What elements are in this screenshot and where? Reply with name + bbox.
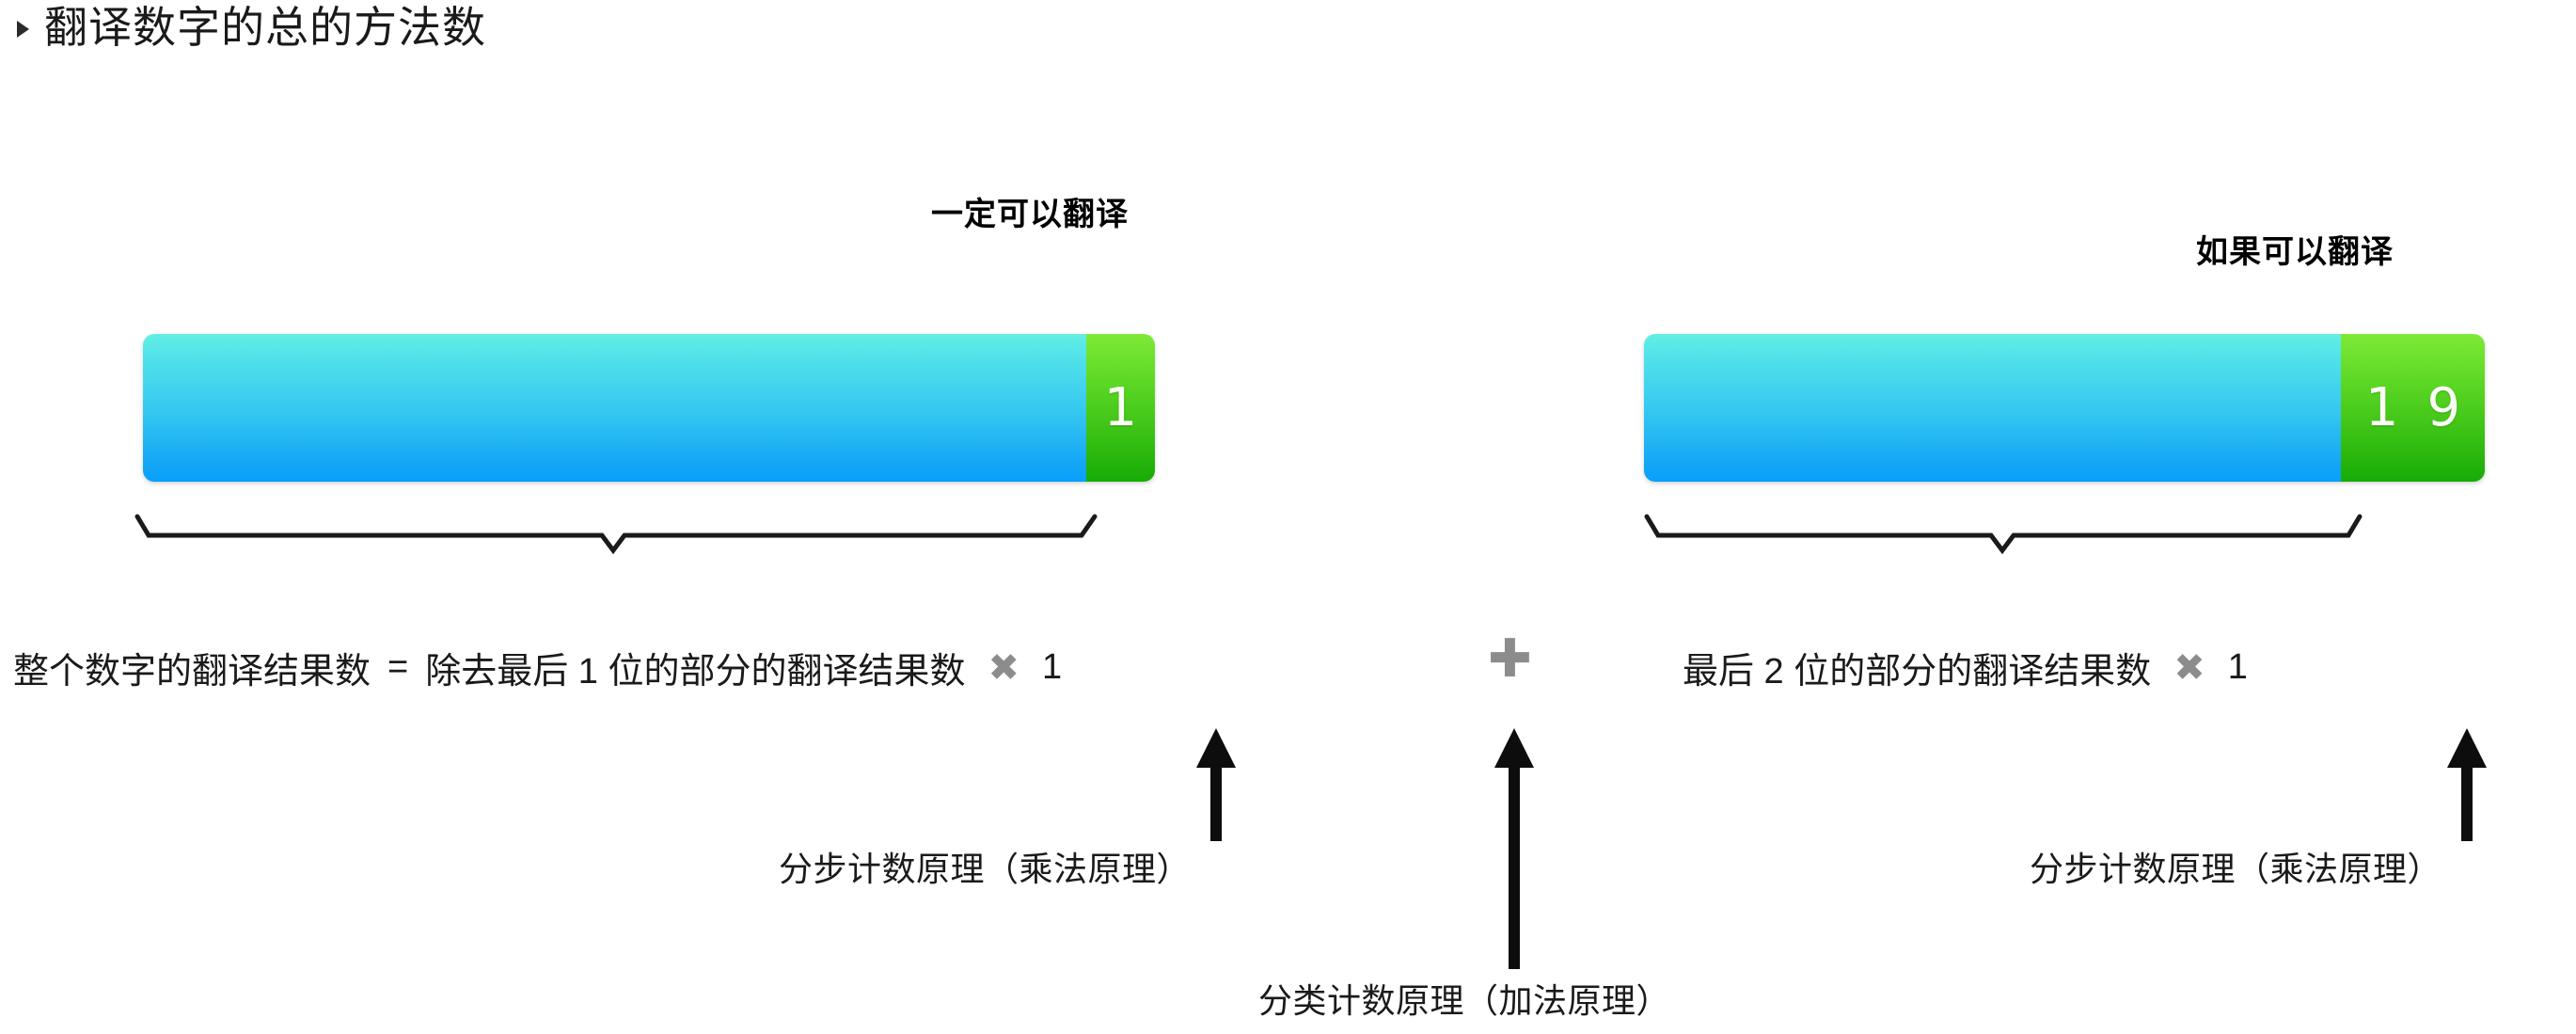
underbrace-right — [1641, 513, 2365, 560]
triangle-right-icon — [17, 21, 29, 38]
plus-icon: ✚ — [1488, 632, 1532, 685]
formula-left-equals: = — [387, 647, 408, 688]
formula-left-rhs-term: 除去最后 1 位的部分的翻译结果数 — [425, 642, 965, 693]
number-bar-right: 1 9 — [1644, 334, 2485, 482]
annotation-left: 分步计数原理（乘法原理） — [779, 842, 1191, 891]
arrow-up-left-multiply — [1191, 724, 1241, 843]
annotation-right: 分步计数原理（乘法原理） — [2030, 842, 2442, 891]
bar-left-green-segment: 1 — [1086, 334, 1155, 482]
formula-left: 整个数字的翻译结果数 = 除去最后 1 位的部分的翻译结果数 ✖ 1 — [13, 642, 1062, 693]
bar-right-green-segment: 1 9 — [2341, 334, 2485, 482]
formula-right-factor: 1 — [2228, 647, 2248, 688]
number-bar-left: 1 — [143, 334, 1155, 482]
bar-left-digit-1: 1 — [1104, 382, 1138, 435]
bar-right-blue-segment — [1644, 334, 2341, 482]
bar-caption-right: 如果可以翻译 — [2196, 226, 2394, 272]
bar-right-digit-1: 1 — [2365, 382, 2399, 435]
multiply-icon: ✖ — [982, 649, 1025, 687]
annotation-center: 分类计数原理（加法原理） — [1258, 974, 1670, 1023]
formula-left-lhs: 整个数字的翻译结果数 — [13, 642, 371, 693]
underbrace-left — [132, 513, 1100, 560]
page-title-text: 翻译数字的总的方法数 — [44, 4, 486, 52]
bar-right-digit-2: 9 — [2427, 382, 2461, 435]
arrow-up-right-multiply — [2442, 724, 2492, 843]
formula-right-rhs-term: 最后 2 位的部分的翻译结果数 — [1683, 642, 2151, 693]
bar-left-blue-segment — [143, 334, 1086, 482]
bar-caption-left: 一定可以翻译 — [931, 188, 1129, 234]
formula-left-factor: 1 — [1042, 647, 1062, 688]
multiply-icon: ✖ — [2168, 649, 2211, 687]
page-title: 翻译数字的总的方法数 — [17, 4, 486, 52]
slide-canvas: 翻译数字的总的方法数 一定可以翻译 如果可以翻译 1 1 9 整个数字的翻译结果… — [0, 0, 2576, 1034]
formula-right: 最后 2 位的部分的翻译结果数 ✖ 1 — [1683, 642, 2248, 693]
arrow-up-center-plus — [1489, 724, 1540, 971]
